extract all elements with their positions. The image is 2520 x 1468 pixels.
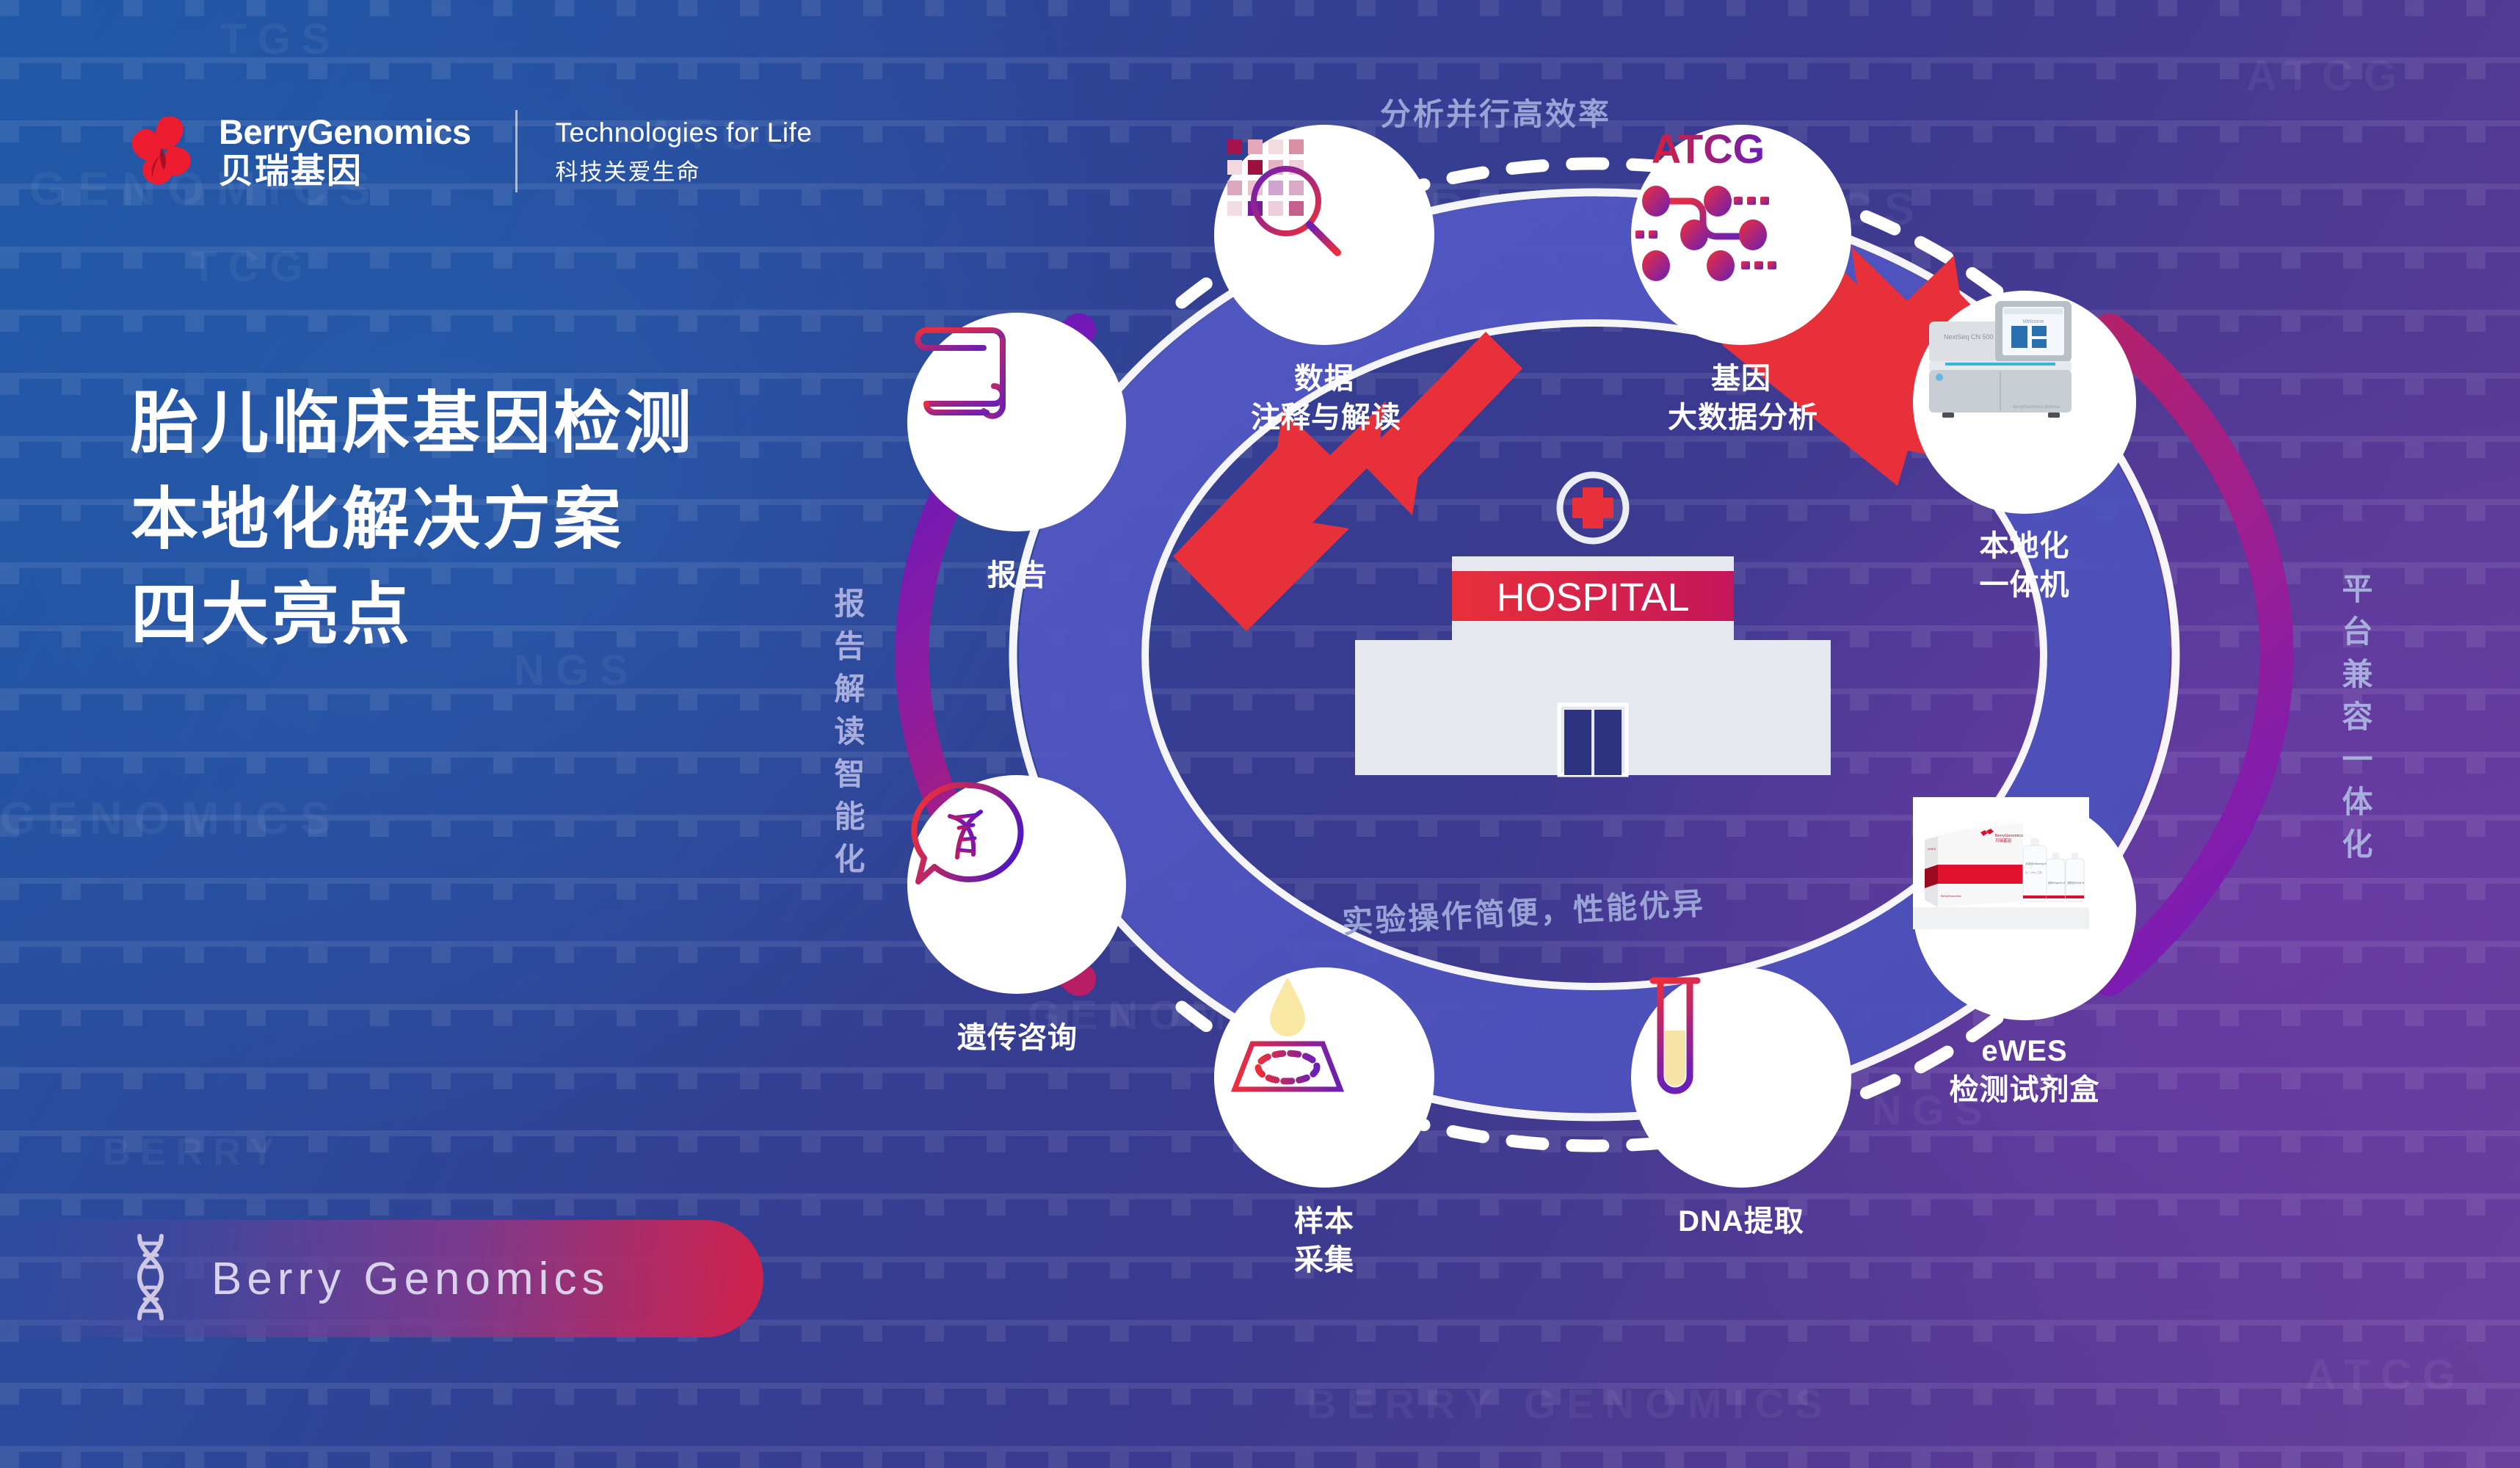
- svg-text:eWES: eWES: [1928, 847, 1936, 851]
- node-ewes-kit-label: eWES 检测试剂盒: [1936, 1032, 2113, 1110]
- node-label-line-2: 检测试剂盒: [1936, 1071, 2113, 1110]
- node-label-line-2: 一体机: [1951, 566, 2098, 605]
- node-report-label: 报告: [944, 556, 1091, 595]
- node-data-annotation[interactable]: [1214, 125, 1434, 345]
- node-label-line-1: eWES: [1936, 1032, 2113, 1071]
- node-gene-bigdata[interactable]: ATCG: [1631, 125, 1851, 345]
- svg-text:BerryGenomics: BerryGenomics: [1941, 894, 1961, 898]
- headline-line-1: 胎儿临床基因检测: [131, 376, 694, 472]
- ghost-word: TGS: [220, 15, 341, 64]
- atcg-badge-label: ATCG: [1652, 126, 1765, 172]
- node-genetic-counseling-label: 遗传咨询: [900, 1019, 1135, 1058]
- node-sample-collection[interactable]: [1214, 967, 1434, 1188]
- node-label-line-2: 大数据分析: [1668, 399, 1815, 437]
- gene-network-icon: ATCG: [1631, 125, 1785, 283]
- node-label-line-1: 样本: [1251, 1202, 1398, 1241]
- caption-right-vertical: 平台兼容一体化: [2333, 573, 2378, 895]
- ghost-word: GENOMICS: [0, 793, 343, 845]
- brand-name-en: BerryGenomics: [219, 115, 471, 149]
- sample-drop-slide-icon: [1214, 967, 1361, 1100]
- headline-line-2: 本地化解决方案: [131, 472, 694, 568]
- caption-left-vertical: 报告解读智能化: [825, 587, 870, 895]
- tagline-en: Technologies for Life: [556, 119, 813, 146]
- heatmap-magnifier-icon: [1214, 125, 1354, 264]
- test-tube-icon: [1631, 967, 1719, 1114]
- header-divider: [515, 110, 518, 192]
- footer-badge: Berry Genomics: [0, 1220, 763, 1337]
- node-gene-bigdata-label: 基因 大数据分析: [1668, 360, 1815, 437]
- caption-top: 分析并行高效率: [1380, 90, 1611, 134]
- headline-line-3: 四大亮点: [131, 567, 694, 664]
- node-genetic-counseling[interactable]: [907, 775, 1126, 994]
- node-label-line-1: 数据: [1251, 360, 1398, 399]
- dna-helix-icon: [125, 1232, 176, 1326]
- svg-text:磁珠/Magnetic B: 磁珠/Magnetic B: [2048, 881, 2065, 884]
- node-dna-extraction-label: DNA提取: [1660, 1202, 1822, 1241]
- node-report[interactable]: [907, 313, 1126, 531]
- svg-text:BerryGenomics illumina: BerryGenomics illumina: [2013, 405, 2060, 410]
- ghost-word: ATCG: [2246, 51, 2408, 101]
- svg-text:加入 48mL 乙醇: 加入 48mL 乙醇: [2025, 871, 2042, 874]
- workflow-cycle-diagram: HOSPITAL: [837, 110, 2510, 1417]
- ghost-word: BERRY: [103, 1130, 285, 1174]
- node-sample-collection-label: 样本 采集: [1251, 1202, 1398, 1280]
- node-label-line-1: 基因: [1668, 360, 1815, 399]
- hospital-banner-label: HOSPITAL: [1496, 575, 1689, 619]
- node-label-line-2: 采集: [1251, 1241, 1398, 1280]
- node-sequencer[interactable]: NextSeq CN 500 Welcome BerryGenomics ill…: [1913, 291, 2136, 514]
- infographic-canvas: GENOMICS TGS ATCG TCG NGS GENOMICS BERRY…: [0, 0, 2520, 1468]
- scroll-report-icon: [907, 313, 1017, 430]
- node-sequencer-label: 本地化 一体机: [1951, 527, 2098, 605]
- dna-speech-bubble-icon: [907, 775, 1032, 900]
- ghost-word: TCG: [191, 242, 314, 291]
- tagline-cn: 科技关爱生命: [556, 161, 813, 183]
- node-ewes-kit[interactable]: BerryGenomics 贝瑞基因 eWES BerryGenomics 洗涤…: [1913, 797, 2136, 1020]
- svg-text:洗脱液/Elution B: 洗脱液/Elution B: [2067, 881, 2084, 884]
- reagent-kit-photo: BerryGenomics 贝瑞基因 eWES BerryGenomics 洗涤…: [1913, 797, 2089, 929]
- brand-name-cn: 贝瑞基因: [219, 153, 471, 188]
- svg-text:NextSeq CN 500: NextSeq CN 500: [1944, 333, 1994, 341]
- butterfly-logo-icon: [123, 110, 206, 192]
- svg-text:洗涤液/Washing Buf: 洗涤液/Washing Buf: [2025, 862, 2049, 865]
- svg-text:BerryGenomics: BerryGenomics: [1995, 834, 2023, 838]
- node-label-line-1: 本地化: [1951, 527, 2098, 566]
- svg-text:Welcome: Welcome: [2022, 319, 2044, 324]
- sequencer-photo: NextSeq CN 500 Welcome BerryGenomics ill…: [1913, 291, 2082, 423]
- brand-header: BerryGenomics 贝瑞基因 Technologies for Life…: [123, 110, 812, 192]
- footer-badge-label: Berry Genomics: [211, 1253, 609, 1305]
- node-dna-extraction[interactable]: [1631, 967, 1851, 1188]
- node-data-annotation-label: 数据 注释与解读: [1251, 360, 1398, 437]
- node-label-line-2: 注释与解读: [1251, 399, 1398, 437]
- svg-text:贝瑞基因: 贝瑞基因: [1995, 837, 2012, 843]
- page-title: 胎儿临床基因检测 本地化解决方案 四大亮点: [131, 376, 694, 664]
